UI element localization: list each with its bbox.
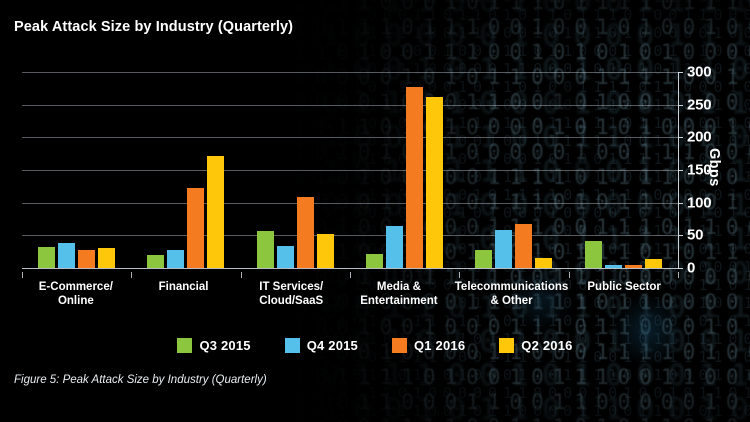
y-axis-label: 100 xyxy=(687,194,711,211)
y-axis-label: 300 xyxy=(687,64,711,81)
x-axis-label: Media & Entertainment xyxy=(345,272,453,308)
bar-group xyxy=(569,72,678,268)
bar[interactable] xyxy=(515,224,532,268)
bar[interactable] xyxy=(317,234,334,268)
x-axis-label: Public Sector xyxy=(570,272,678,308)
bar[interactable] xyxy=(495,230,512,268)
bar[interactable] xyxy=(585,241,602,268)
x-axis-tick xyxy=(131,272,132,278)
bar[interactable] xyxy=(605,265,622,268)
legend-label: Q1 2016 xyxy=(414,338,465,353)
bar-groups xyxy=(22,72,678,268)
bar[interactable] xyxy=(475,250,492,268)
x-axis-tick xyxy=(678,272,679,278)
legend-swatch-icon xyxy=(285,338,300,353)
bar-group xyxy=(22,72,131,268)
legend-item[interactable]: Q1 2016 xyxy=(392,338,465,353)
y-axis-label: 0 xyxy=(687,260,695,277)
bar[interactable] xyxy=(426,97,443,268)
legend-swatch-icon xyxy=(499,338,514,353)
bar[interactable] xyxy=(147,255,164,268)
figure-caption: Figure 5: Peak Attack Size by Industry (… xyxy=(14,374,267,386)
legend-item[interactable]: Q2 2016 xyxy=(499,338,572,353)
legend-item[interactable]: Q4 2015 xyxy=(285,338,358,353)
axis-baseline xyxy=(22,268,678,269)
bar[interactable] xyxy=(98,248,115,268)
y-axis-tick xyxy=(678,203,683,204)
page-title: Peak Attack Size by Industry (Quarterly) xyxy=(14,19,293,35)
bar[interactable] xyxy=(535,258,552,268)
bar[interactable] xyxy=(297,197,314,268)
x-axis-labels: E-Commerce/ OnlineFinancialIT Services/ … xyxy=(22,272,678,308)
y-axis-tick xyxy=(678,170,683,171)
legend-label: Q3 2015 xyxy=(199,338,250,353)
bar-group xyxy=(350,72,459,268)
y-axis-label: 200 xyxy=(687,129,711,146)
y-axis-title: Gbps xyxy=(706,148,722,187)
bar[interactable] xyxy=(406,87,423,268)
bar[interactable] xyxy=(625,265,642,268)
x-axis-tick xyxy=(241,272,242,278)
x-axis-tick xyxy=(22,272,23,278)
y-axis-tick xyxy=(678,137,683,138)
legend-label: Q4 2015 xyxy=(307,338,358,353)
y-axis-label: 250 xyxy=(687,96,711,113)
bar[interactable] xyxy=(257,231,274,268)
chart-legend: Q3 2015Q4 2015Q1 2016Q2 2016 xyxy=(0,338,750,353)
bar[interactable] xyxy=(187,188,204,268)
bar-group xyxy=(131,72,240,268)
legend-item[interactable]: Q3 2015 xyxy=(177,338,250,353)
bar[interactable] xyxy=(167,250,184,268)
bar[interactable] xyxy=(207,156,224,268)
legend-swatch-icon xyxy=(392,338,407,353)
x-axis-tick xyxy=(350,272,351,278)
x-axis-label: Financial xyxy=(130,272,238,308)
bar[interactable] xyxy=(386,226,403,268)
bar[interactable] xyxy=(58,243,75,268)
bar[interactable] xyxy=(277,246,294,268)
legend-swatch-icon xyxy=(177,338,192,353)
bar[interactable] xyxy=(38,247,55,268)
legend-label: Q2 2016 xyxy=(521,338,572,353)
y-axis-tick xyxy=(678,105,683,106)
y-axis-tick xyxy=(678,268,683,269)
bar-group xyxy=(241,72,350,268)
y-axis-label: 50 xyxy=(687,227,703,244)
bar-group xyxy=(459,72,568,268)
bar[interactable] xyxy=(366,254,383,268)
x-axis-tick xyxy=(569,272,570,278)
y-axis-tick xyxy=(678,235,683,236)
y-axis-tick xyxy=(678,72,683,73)
x-axis-label: E-Commerce/ Online xyxy=(22,272,130,308)
chart-page: 101101110101111001000111100000 000010011… xyxy=(0,0,750,422)
x-axis-label: IT Services/ Cloud/SaaS xyxy=(237,272,345,308)
bar[interactable] xyxy=(645,259,662,268)
plot-area xyxy=(22,72,678,268)
bar[interactable] xyxy=(78,250,95,268)
x-axis-label: Telecommunications & Other xyxy=(453,272,571,308)
x-axis-tick xyxy=(459,272,460,278)
